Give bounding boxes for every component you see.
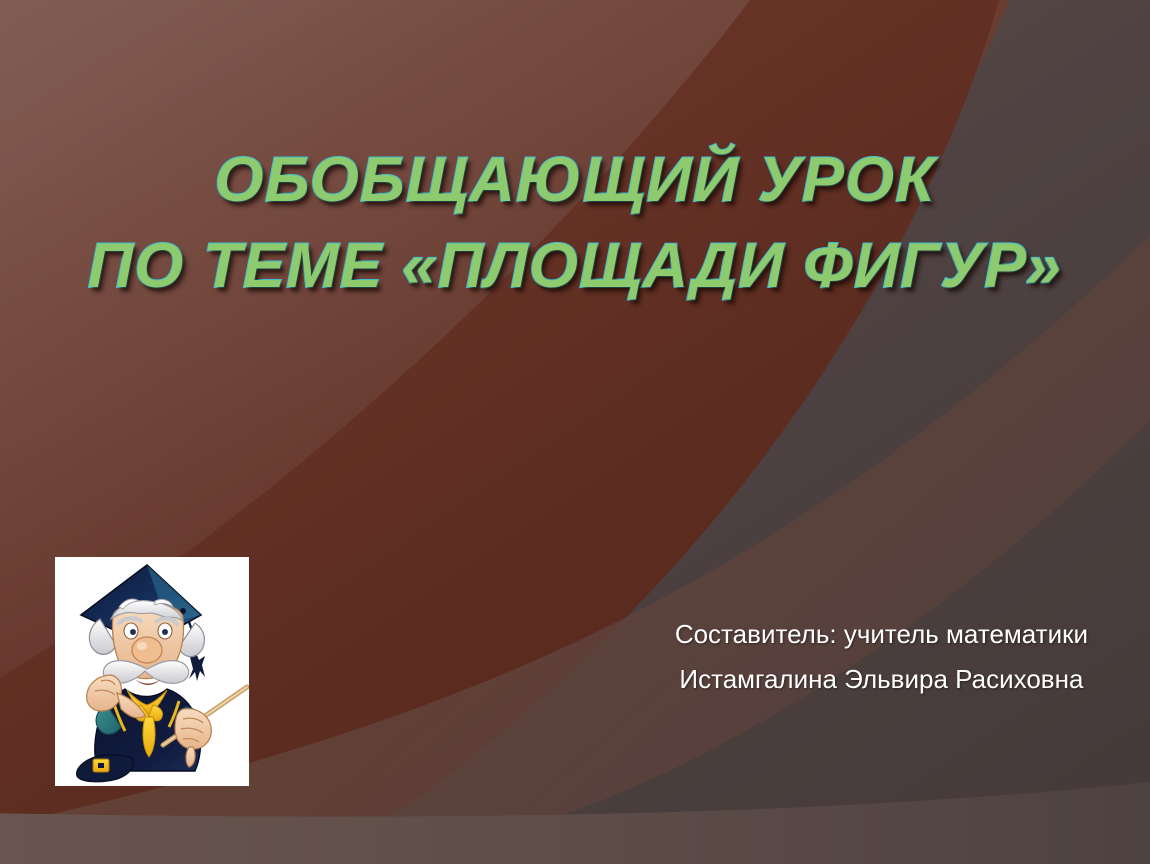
presentation-slide: ОБОБЩАЮЩИЙ УРОК ПО ТЕМЕ «ПЛОЩАДИ ФИГУР» … xyxy=(0,0,1150,864)
slide-author-block: Составитель: учитель математики Истамгал… xyxy=(675,612,1088,701)
professor-with-pointer-icon xyxy=(55,557,249,786)
professor-clipart-frame xyxy=(55,557,249,786)
author-line-role: Составитель: учитель математики xyxy=(675,612,1088,657)
slide-title: ОБОБЩАЮЩИЙ УРОК ПО ТЕМЕ «ПЛОЩАДИ ФИГУР» xyxy=(0,148,1150,299)
author-line-name: Истамгалина Эльвира Расиховна xyxy=(675,657,1088,702)
slide-title-line-1: ОБОБЩАЮЩИЙ УРОК xyxy=(0,148,1150,212)
slide-title-line-2: ПО ТЕМЕ «ПЛОЩАДИ ФИГУР» xyxy=(0,234,1150,298)
